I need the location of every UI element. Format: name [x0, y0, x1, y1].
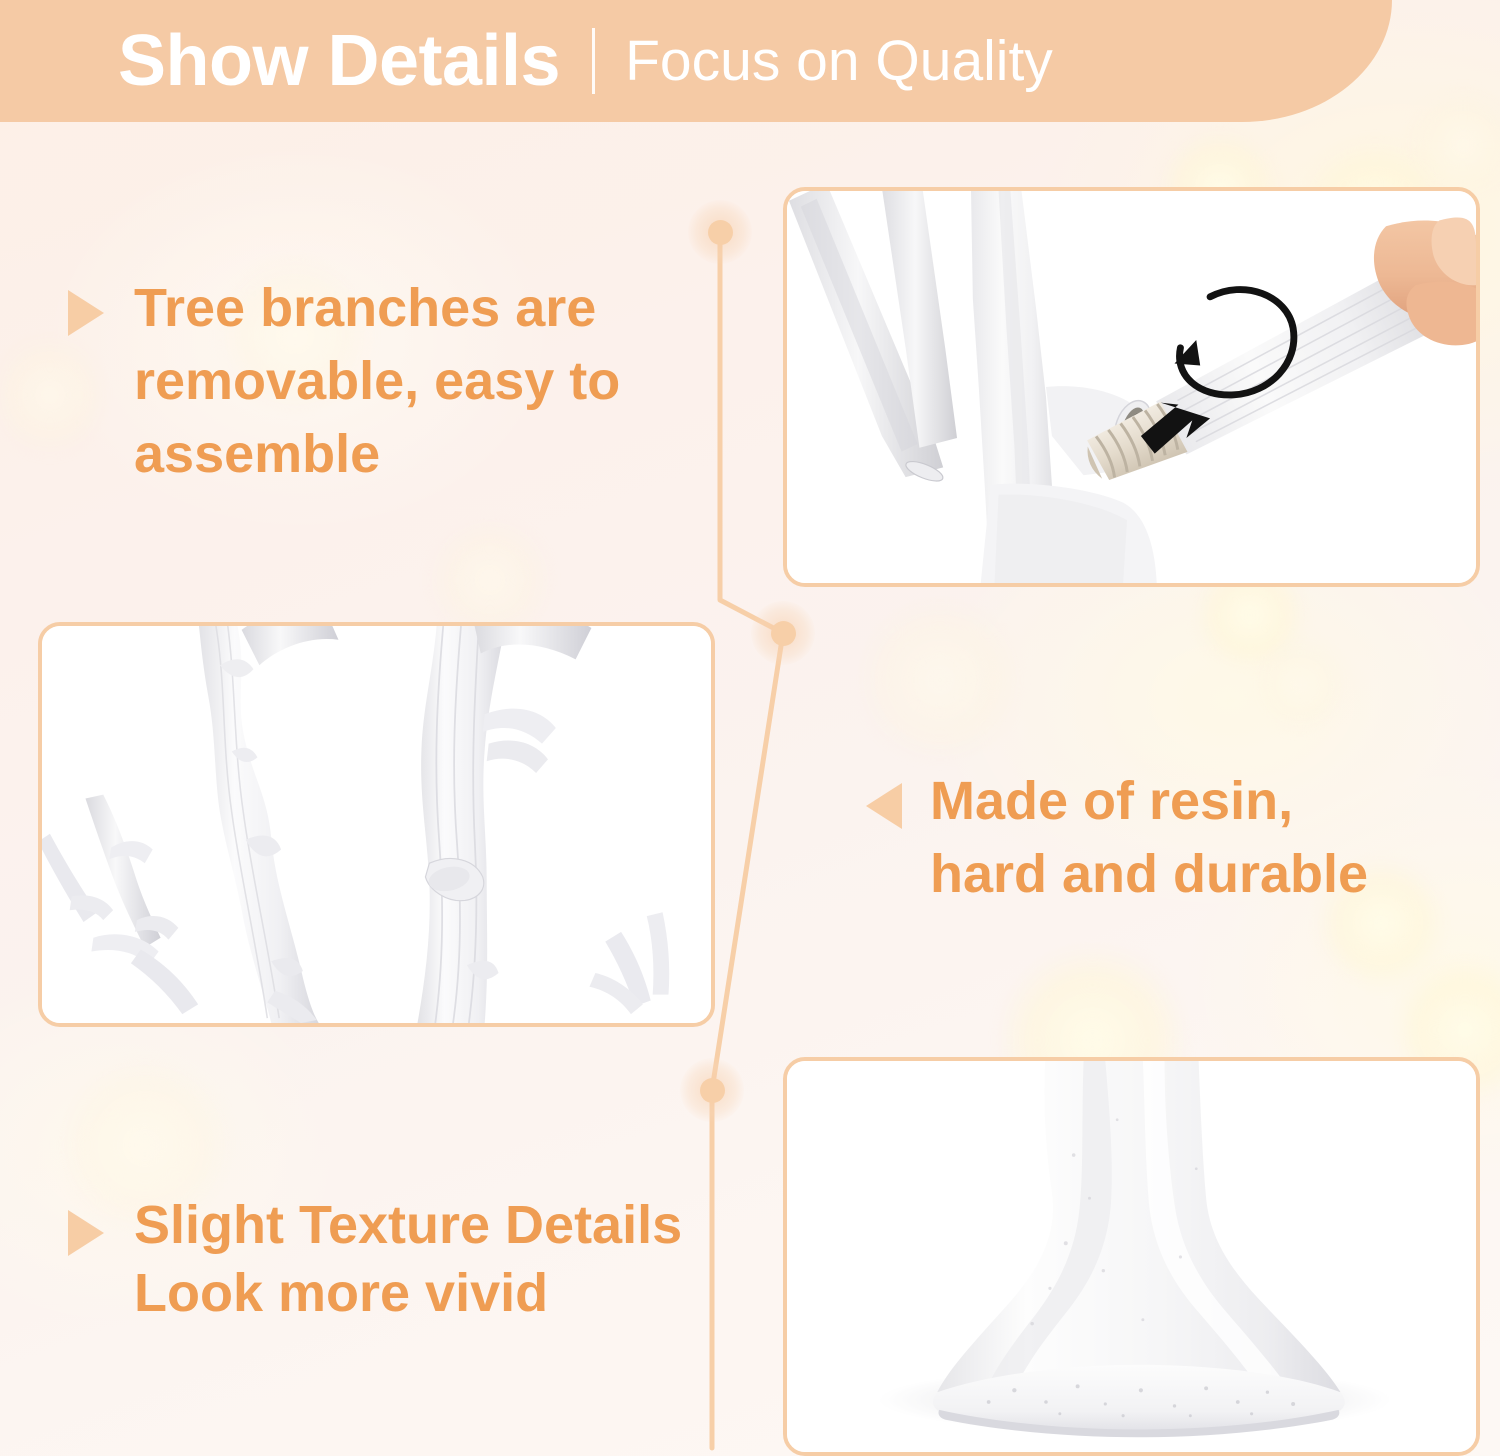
- branch-assembly-illustration: [787, 191, 1476, 583]
- connector-node-top: [688, 200, 752, 264]
- bokeh-light: [1408, 90, 1500, 200]
- header-subtitle: Focus on Quality: [625, 33, 1053, 90]
- feature-label: Tree branches are removable, easy to ass…: [134, 272, 708, 491]
- feature-slight-texture-details: Slight Texture Details Look more vivid: [68, 1192, 718, 1327]
- photo-panel-branch-assembly: [783, 187, 1480, 587]
- branch-texture-illustration: [42, 626, 711, 1023]
- connector-node-bottom: [680, 1058, 744, 1122]
- bokeh-light: [1255, 640, 1345, 730]
- triangle-left-icon: [866, 783, 902, 829]
- connector-line-top: [720, 232, 783, 633]
- infographic-root: Show Details Focus on Quality: [0, 0, 1500, 1456]
- photo-panel-branch-texture: [38, 622, 715, 1027]
- feature-made-of-resin: Made of resin, hard and durable: [866, 765, 1466, 911]
- triangle-right-icon: [68, 1210, 104, 1256]
- feature-label: Slight Texture Details Look more vivid: [134, 1192, 682, 1327]
- photo-panel-tree-base: [783, 1057, 1480, 1456]
- connector-line-middle: [712, 633, 783, 1090]
- header-divider: [592, 28, 595, 94]
- connector-node-middle: [751, 601, 815, 665]
- header-banner: Show Details Focus on Quality: [0, 0, 1392, 122]
- feature-label: Made of resin, hard and durable: [930, 765, 1368, 911]
- page-title: Show Details: [118, 25, 560, 97]
- triangle-right-icon: [68, 290, 104, 336]
- bokeh-light: [860, 600, 1020, 760]
- feature-tree-branches-removable: Tree branches are removable, easy to ass…: [68, 272, 708, 491]
- tree-base-illustration: [787, 1061, 1476, 1452]
